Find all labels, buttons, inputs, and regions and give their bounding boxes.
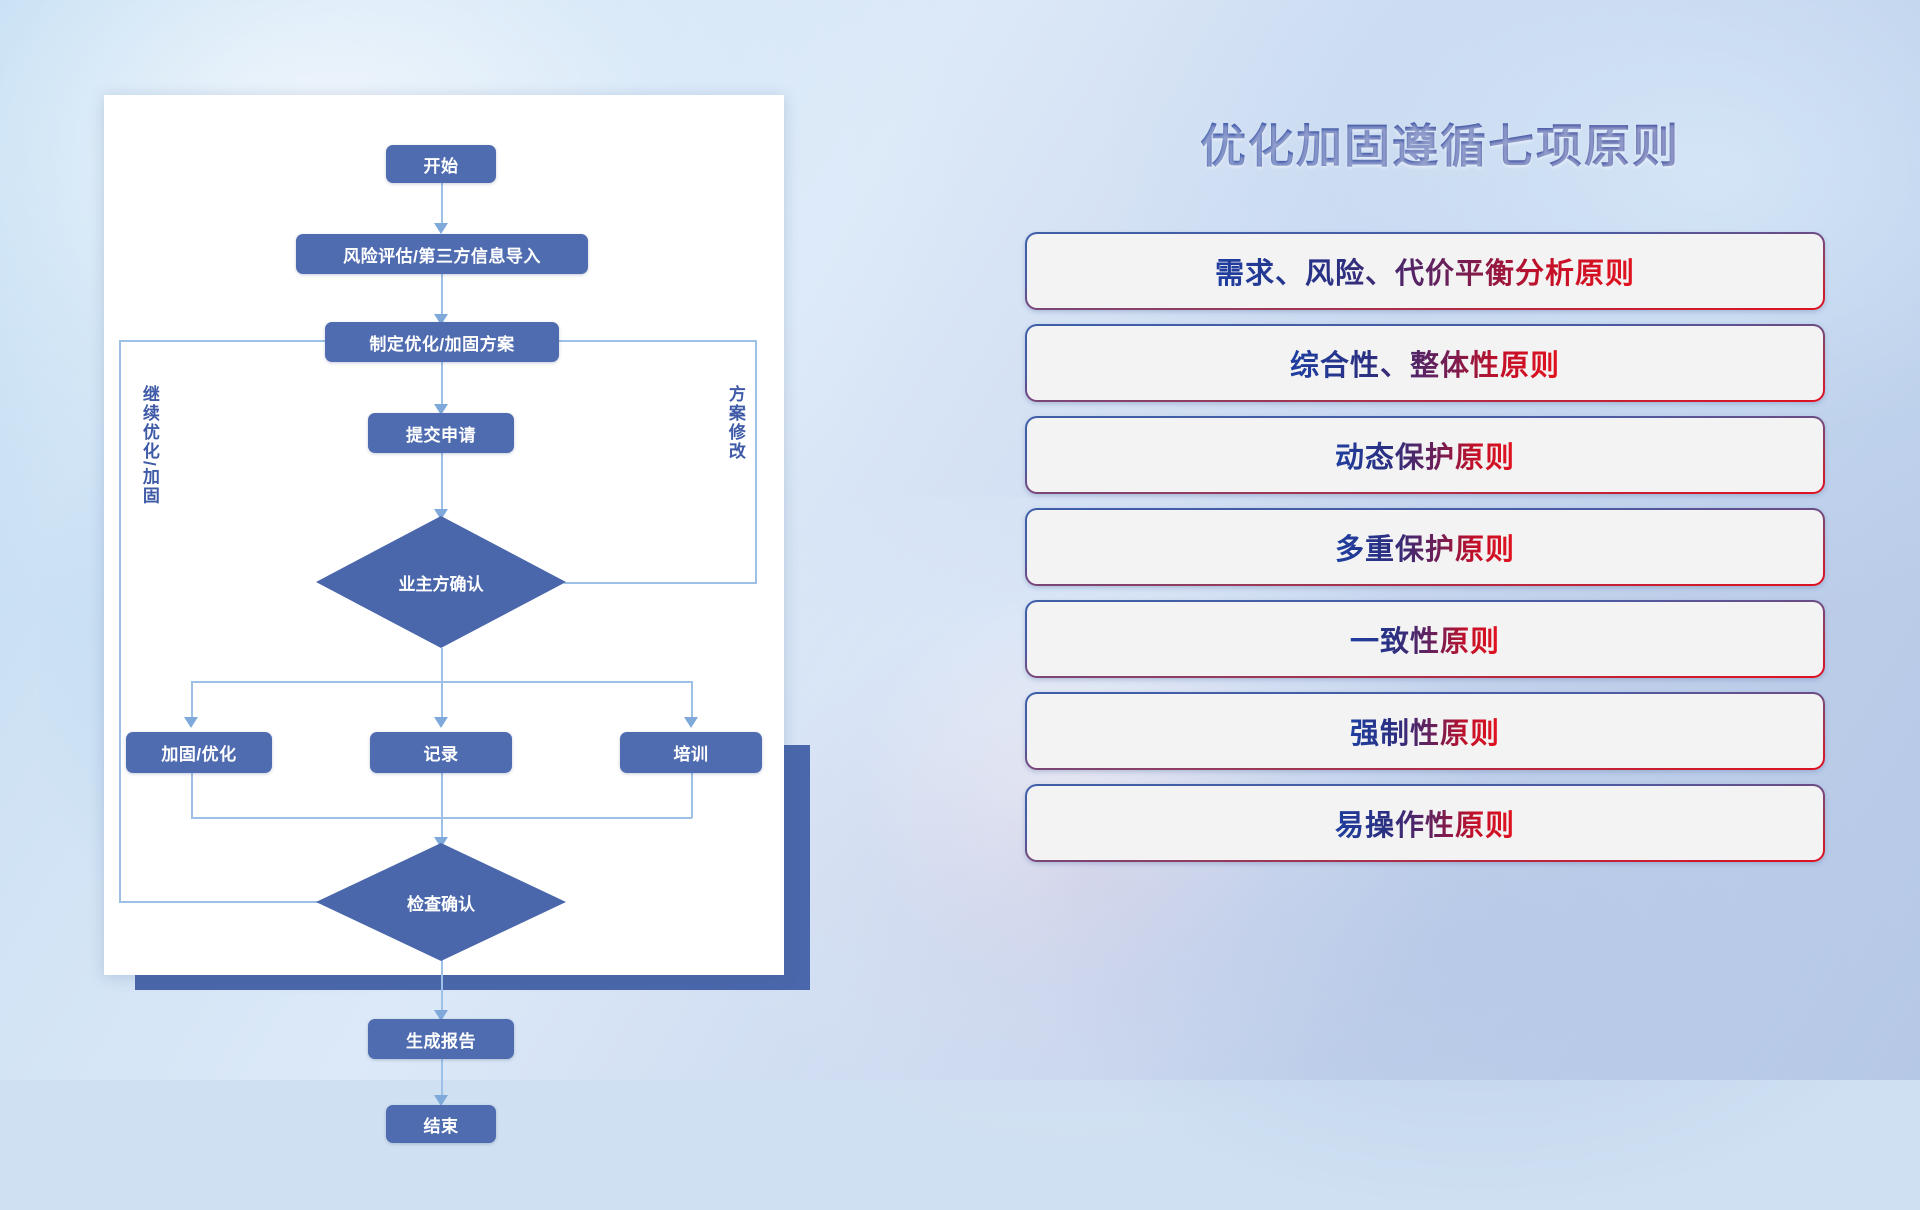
flow-node-report[interactable]: 生成报告 [368,1019,514,1059]
edge-label-continue-optimize: 继续优化/加固 [140,385,158,506]
principle-card-7-label: 易操作性原则 [1335,802,1515,844]
flow-node-owner-confirm-label: 业主方确认 [399,570,484,595]
flow-node-record[interactable]: 记录 [370,732,512,773]
flow-node-training-label: 培训 [674,740,709,765]
connector-reinforce-down [191,773,193,818]
connector-left-up [119,340,121,902]
principle-card-inner: 多重保护原则 [1027,510,1823,584]
flow-node-record-label: 记录 [424,740,459,765]
principle-card-7[interactable]: 易操作性原则 [1025,784,1825,862]
flow-node-end-label: 结束 [424,1112,459,1137]
connector-check-left [119,901,319,903]
flow-node-reinforce-label: 加固/优化 [161,740,236,765]
flow-node-start[interactable]: 开始 [386,145,496,183]
flow-node-end[interactable]: 结束 [386,1105,496,1143]
principle-card-inner: 动态保护原则 [1027,418,1823,492]
flow-node-report-label: 生成报告 [406,1027,476,1052]
principles-list: 需求、风险、代价平衡分析原则 综合性、整体性原则 动态保护原则 多重保护原则 一… [1025,232,1825,876]
flow-node-check-confirm-label: 检查确认 [407,890,475,915]
flow-node-reinforce[interactable]: 加固/优化 [126,732,272,773]
principle-card-3-label: 动态保护原则 [1335,434,1515,476]
principle-card-1[interactable]: 需求、风险、代价平衡分析原则 [1025,232,1825,310]
principle-card-4-label: 多重保护原则 [1335,526,1515,568]
connector-plan-submit [441,362,443,409]
connector-right-up [755,340,757,584]
principle-card-5[interactable]: 一致性原则 [1025,600,1825,678]
flowchart-card: 开始 风险评估/第三方信息导入 制定优化/加固方案 提交申请 业主方确认 加固/… [104,95,784,975]
arrowhead-branch-right [684,717,698,728]
connector-right-to-plan [530,340,756,342]
principle-card-2[interactable]: 综合性、整体性原则 [1025,324,1825,402]
flow-node-training[interactable]: 培训 [620,732,762,773]
connector-submit-owner [441,452,443,515]
flow-node-risk-assessment-label: 风险评估/第三方信息导入 [343,242,541,267]
connector-check-report [441,960,443,1016]
connector-left-to-plan [119,340,344,342]
principle-card-inner: 一致性原则 [1027,602,1823,676]
principle-card-2-label: 综合性、整体性原则 [1290,342,1560,384]
flow-node-submit-label: 提交申请 [406,421,476,446]
flow-node-plan-label: 制定优化/加固方案 [369,330,514,355]
flow-node-owner-confirm[interactable]: 业主方确认 [316,516,566,648]
arrowhead-branch-left [184,717,198,728]
connector-risk-plan [441,271,443,319]
connector-owner-down [441,648,443,683]
principle-card-1-label: 需求、风险、代价平衡分析原则 [1215,250,1635,292]
flow-node-risk-assessment[interactable]: 风险评估/第三方信息导入 [296,234,588,274]
connector-train-down [691,773,693,818]
principles-panel: 优化加固遵循七项原则 需求、风险、代价平衡分析原则 综合性、整体性原则 动态保护… [1000,0,1920,1080]
flow-node-start-label: 开始 [424,152,459,177]
principle-card-5-label: 一致性原则 [1350,618,1500,660]
principle-card-inner: 易操作性原则 [1027,786,1823,860]
edge-label-plan-revision: 方案修改 [726,385,744,461]
flowchart-canvas: 开始 风险评估/第三方信息导入 制定优化/加固方案 提交申请 业主方确认 加固/… [104,95,784,975]
principle-card-inner: 综合性、整体性原则 [1027,326,1823,400]
principle-card-inner: 强制性原则 [1027,694,1823,768]
flow-node-check-confirm[interactable]: 检查确认 [316,843,566,961]
principle-card-6-label: 强制性原则 [1350,710,1500,752]
connector-record-check [441,773,443,843]
flowchart-panel: 开始 风险评估/第三方信息导入 制定优化/加固方案 提交申请 业主方确认 加固/… [0,0,830,1080]
arrowhead-start-risk [434,223,448,234]
flow-node-submit[interactable]: 提交申请 [368,413,514,453]
principle-card-inner: 需求、风险、代价平衡分析原则 [1027,234,1823,308]
connector-start-risk [441,180,443,228]
principle-card-6[interactable]: 强制性原则 [1025,692,1825,770]
principle-card-3[interactable]: 动态保护原则 [1025,416,1825,494]
arrowhead-branch-mid [434,717,448,728]
principles-heading: 优化加固遵循七项原则 [1000,110,1880,176]
principle-card-4[interactable]: 多重保护原则 [1025,508,1825,586]
flow-node-plan[interactable]: 制定优化/加固方案 [325,322,559,362]
connector-owner-right [564,582,757,584]
